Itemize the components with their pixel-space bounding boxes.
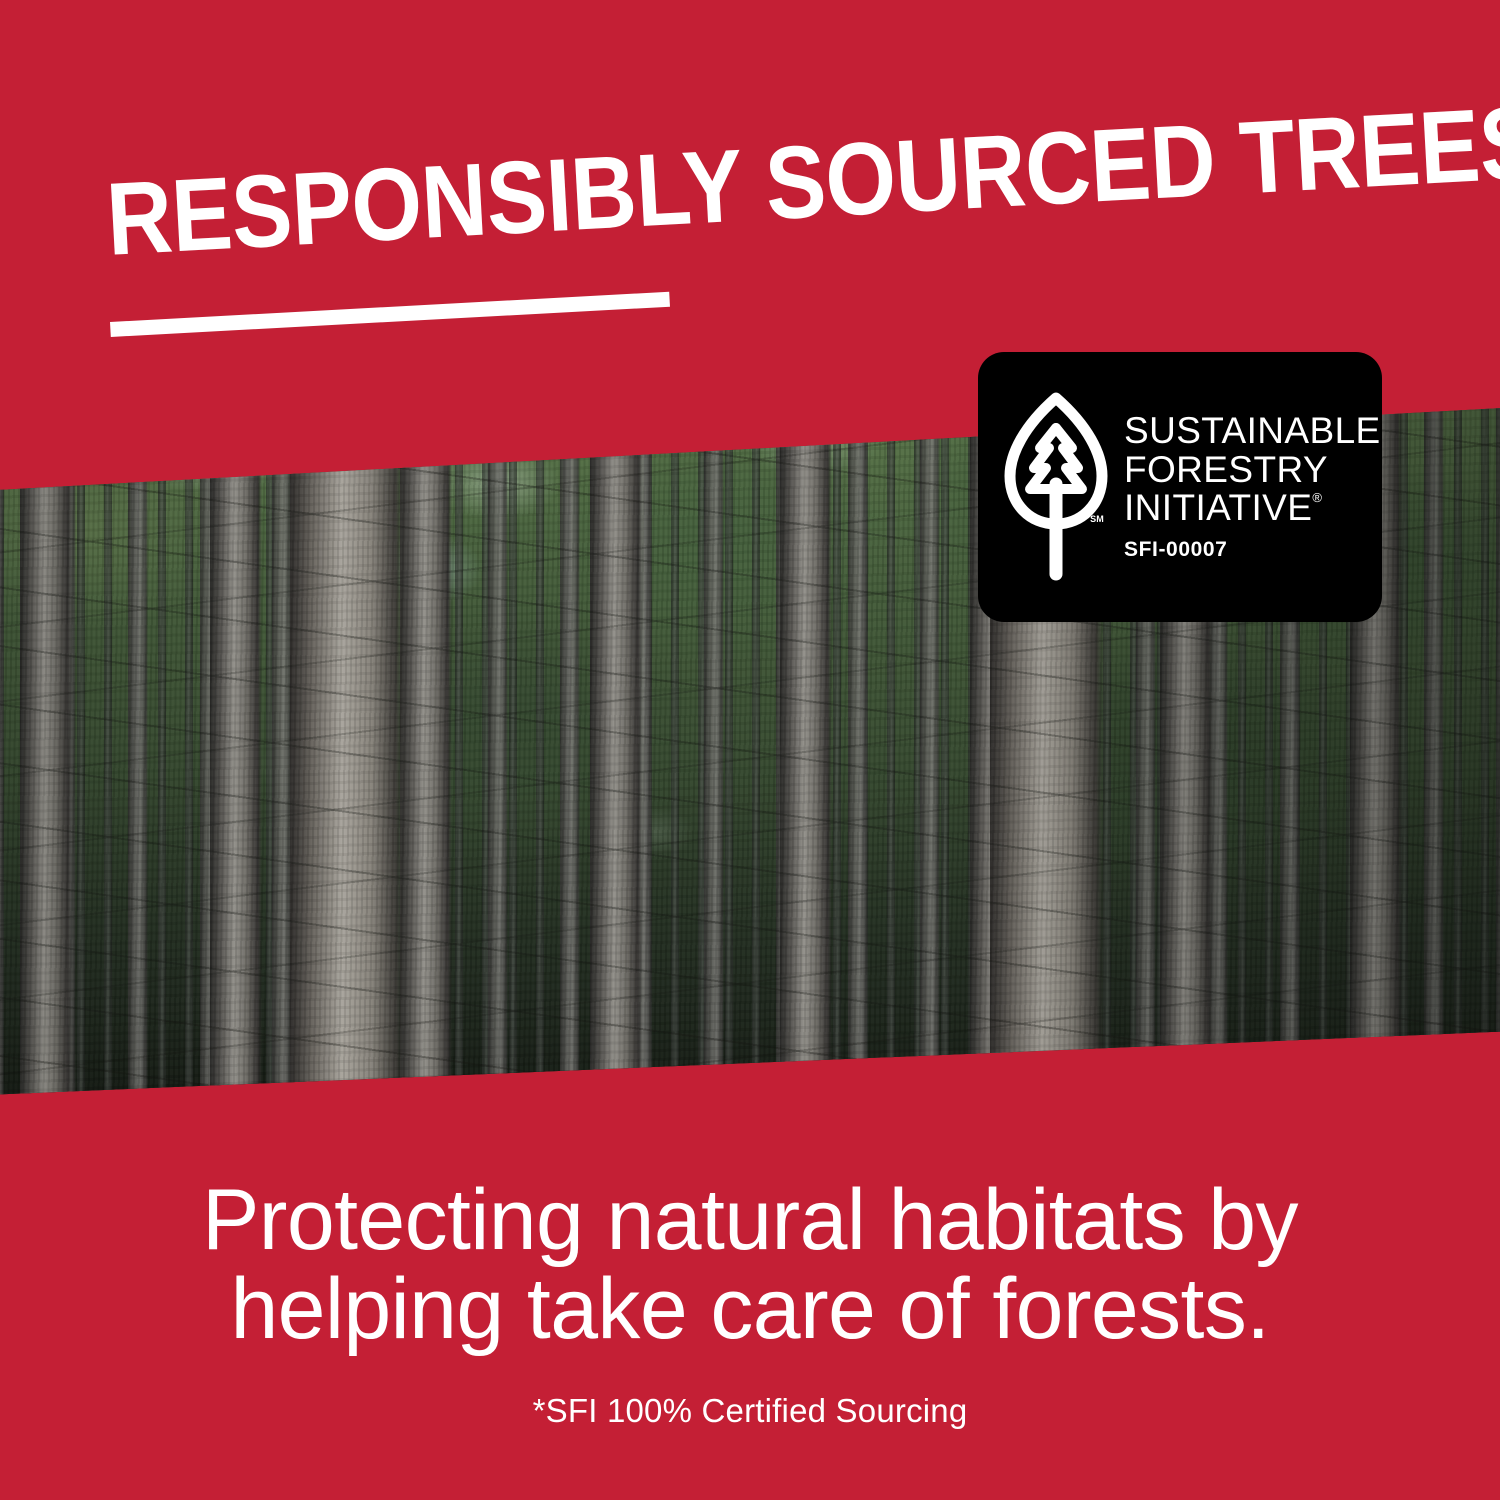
sfi-certification-badge: SM SUSTAINABLE FORESTRY INITIATIVE® SFI-…: [978, 352, 1382, 622]
tagline: Protecting natural habitats by helping t…: [0, 1176, 1500, 1353]
tagline-line-2: helping take care of forests.: [0, 1265, 1500, 1354]
sfi-leaf-tree-icon: SM: [1004, 392, 1108, 582]
page-title: RESPONSIBLY SOURCED TREES*: [104, 78, 1500, 271]
sustainability-banner: RESPONSIBLY SOURCED TREES* SM SUSTAINABL…: [0, 0, 1500, 1500]
page-title-text: RESPONSIBLY SOURCED TREES*: [104, 89, 1500, 271]
service-mark-label: SM: [1090, 514, 1104, 524]
sfi-line-1: SUSTAINABLE: [1124, 412, 1381, 451]
title-underline-rule: [110, 292, 670, 337]
sfi-line-3: INITIATIVE®: [1124, 489, 1381, 528]
tagline-line-1: Protecting natural habitats by: [0, 1176, 1500, 1265]
footnote-disclaimer: *SFI 100% Certified Sourcing: [0, 1392, 1500, 1430]
sfi-line-2: FORESTRY: [1124, 451, 1381, 490]
sfi-badge-text: SUSTAINABLE FORESTRY INITIATIVE® SFI-000…: [1124, 412, 1381, 563]
registered-trademark-icon: ®: [1312, 490, 1322, 505]
sfi-line-3-text: INITIATIVE: [1124, 487, 1312, 528]
sfi-certificate-code: SFI-00007: [1124, 538, 1381, 562]
